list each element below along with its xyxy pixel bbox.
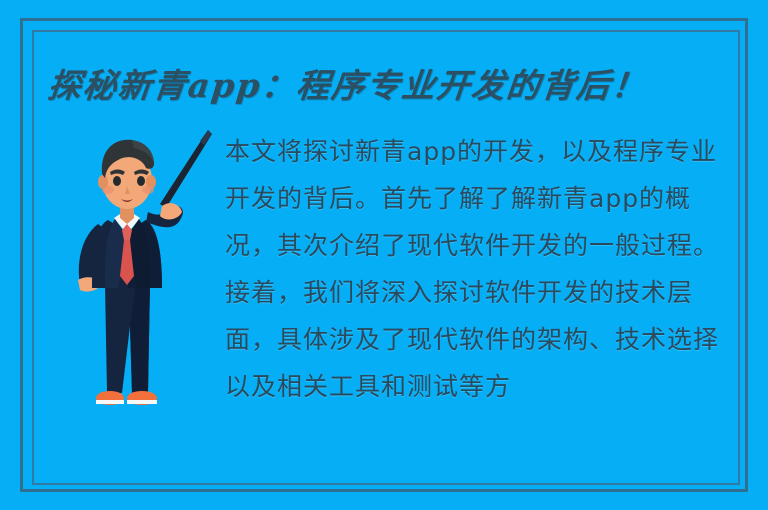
poster-title: 探秘新青app：程序专业开发的背后！: [45, 58, 711, 114]
businessman-illustration-svg: [58, 112, 218, 422]
poster-canvas: 探秘新青app：程序专业开发的背后！ 本文将探讨新青app的开发，以及程序专业开…: [0, 0, 768, 510]
cheek-left: [102, 186, 114, 194]
poster-body-text: 本文将探讨新青app的开发，以及程序专业开发的背后。首先了解了解新青app的概况…: [225, 128, 741, 410]
pointer-stick-icon: [160, 130, 212, 208]
eye-right: [137, 176, 145, 186]
eye-left: [113, 176, 121, 186]
businessman-with-pointer-illustration: [58, 112, 218, 422]
cheek-right: [142, 186, 154, 194]
